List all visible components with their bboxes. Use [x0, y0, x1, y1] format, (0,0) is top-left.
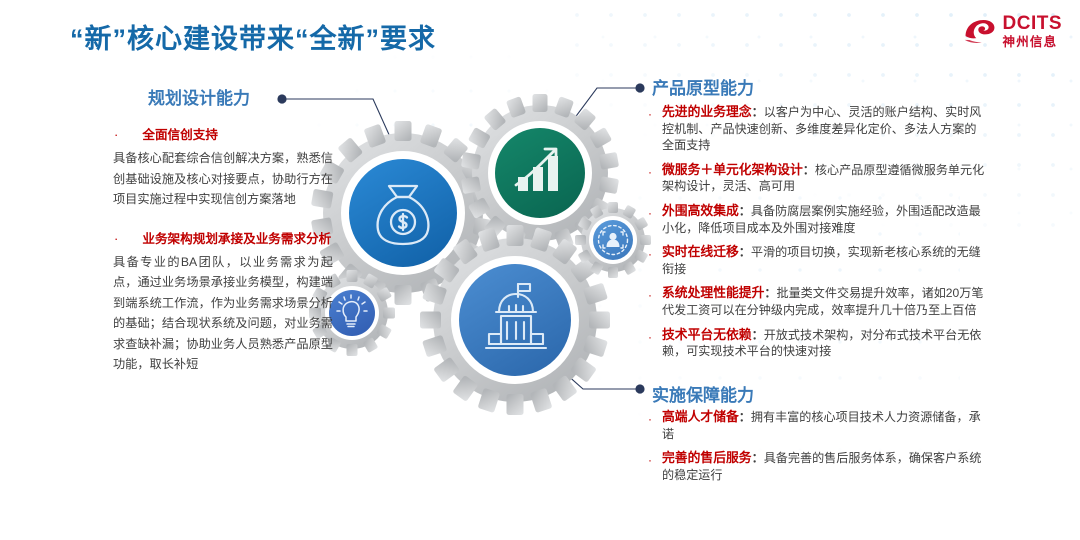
- right-bullet-key: 实时在线迁移: [662, 244, 739, 259]
- colon: ：: [752, 328, 764, 342]
- bullet-dot-icon: ·: [648, 162, 662, 181]
- right-bullet-text: 完善的售后服务：具备完善的售后服务体系，确保客户系统的稳定运行: [662, 450, 988, 483]
- bullet-dot-icon: ·: [648, 285, 662, 304]
- right-bullet-item: · 系统处理性能提升：批量类文件交易提升效率，诸如20万笔代发工资可以在分钟级内…: [648, 285, 988, 318]
- colon: ：: [739, 410, 751, 424]
- colon: ：: [764, 286, 776, 300]
- right-bullet-text: 微服务＋单元化架构设计：核心产品原型遵循微服务单元化架构设计，灵活、高可用: [662, 162, 988, 195]
- right-bullet-item: · 微服务＋单元化架构设计：核心产品原型遵循微服务单元化架构设计，灵活、高可用: [648, 162, 988, 195]
- bullet-dot-icon: ·: [648, 327, 662, 346]
- right-column-prototype-content: · 先进的业务理念：以客户为中心、灵活的账户结构、实时风控机制、产品快速创新、多…: [648, 104, 988, 368]
- left-bullet-title-row: · 业务架构规划承接及业务需求分析: [113, 230, 333, 249]
- right-bullet-key: 技术平台无依赖: [662, 327, 752, 342]
- left-bullet-item: · 全面信创支持 具备核心配套综合信创解决方案，熟悉信创基础设施及核心对接要点，…: [113, 126, 333, 210]
- colon: ：: [752, 105, 764, 119]
- section-heading-planning: 规划设计能力: [148, 84, 250, 109]
- slide-canvas: “新”核心建设带来“全新”要求 DCITS 神州信息: [0, 0, 1080, 540]
- right-bullet-text: 系统处理性能提升：批量类文件交易提升效率，诸如20万笔代发工资可以在分钟级内完成…: [662, 285, 988, 318]
- bullet-dot-icon: ·: [648, 450, 662, 469]
- left-bullet-item: · 业务架构规划承接及业务需求分析 具备专业的BA团队，以业务需求为起点，通过业…: [113, 230, 333, 375]
- bullet-dot-icon: ·: [113, 230, 118, 248]
- bullet-dot-icon: ·: [648, 203, 662, 222]
- section-heading-prototype: 产品原型能力: [652, 74, 754, 99]
- right-bullet-text: 先进的业务理念：以客户为中心、灵活的账户结构、实时风控机制、产品快速创新、多维度…: [662, 104, 988, 154]
- bullet-dot-icon: ·: [113, 126, 118, 144]
- section-heading-implementation: 实施保障能力: [652, 381, 754, 406]
- right-bullet-text: 外围高效集成：具备防腐层案例实施经验，外围适配改造最小化，降低项目成本及外围对接…: [662, 203, 988, 236]
- right-bullet-text: 技术平台无依赖：开放式技术架构，对分布式技术平台无依赖，可实现技术平台的快速对接: [662, 327, 988, 360]
- right-bullet-key: 完善的售后服务: [662, 450, 752, 465]
- colon: ：: [739, 204, 751, 218]
- bullet-dot-icon: ·: [648, 104, 662, 123]
- right-bullet-item: · 外围高效集成：具备防腐层案例实施经验，外围适配改造最小化，降低项目成本及外围…: [648, 203, 988, 236]
- right-bullet-item: · 完善的售后服务：具备完善的售后服务体系，确保客户系统的稳定运行: [648, 450, 988, 483]
- bullet-dot-icon: ·: [648, 409, 662, 428]
- left-bullet-title: 全面信创支持: [125, 126, 218, 145]
- left-bullet-title: 业务架构规划承接及业务需求分析: [125, 230, 331, 249]
- right-bullet-item: · 实时在线迁移：平滑的项目切换，实现新老核心系统的无缝衔接: [648, 244, 988, 277]
- spacer: [113, 216, 333, 230]
- right-bullet-key: 外围高效集成: [662, 203, 739, 218]
- colon: ：: [739, 245, 751, 259]
- right-bullet-text: 高端人才储备：拥有丰富的核心项目技术人力资源储备，承诺: [662, 409, 988, 442]
- colon: ：: [752, 451, 764, 465]
- right-bullet-item: · 先进的业务理念：以客户为中心、灵活的账户结构、实时风控机制、产品快速创新、多…: [648, 104, 988, 154]
- left-bullet-title-row: · 全面信创支持: [113, 126, 333, 145]
- right-bullet-text: 实时在线迁移：平滑的项目切换，实现新老核心系统的无缝衔接: [662, 244, 988, 277]
- right-bullet-key: 系统处理性能提升: [662, 285, 764, 300]
- right-bullet-item: · 高端人才储备：拥有丰富的核心项目技术人力资源储备，承诺: [648, 409, 988, 442]
- colon: ：: [803, 163, 815, 177]
- bullet-dot-icon: ·: [648, 244, 662, 263]
- left-bullet-body: 具备核心配套综合信创解决方案，熟悉信创基础设施及核心对接要点，协助行方在项目实施…: [113, 148, 333, 210]
- right-bullet-key: 先进的业务理念: [662, 104, 752, 119]
- right-bullet-key: 微服务＋单元化架构设计: [662, 162, 803, 177]
- right-column-implementation-content: · 高端人才储备：拥有丰富的核心项目技术人力资源储备，承诺 · 完善的售后服务：…: [648, 409, 988, 491]
- right-bullet-item: · 技术平台无依赖：开放式技术架构，对分布式技术平台无依赖，可实现技术平台的快速…: [648, 327, 988, 360]
- left-column-content: · 全面信创支持 具备核心配套综合信创解决方案，熟悉信创基础设施及核心对接要点，…: [113, 126, 333, 381]
- left-bullet-body: 具备专业的BA团队，以业务需求为起点，通过业务场景承接业务模型，构建端到端系统工…: [113, 252, 333, 375]
- right-bullet-key: 高端人才储备: [662, 409, 739, 424]
